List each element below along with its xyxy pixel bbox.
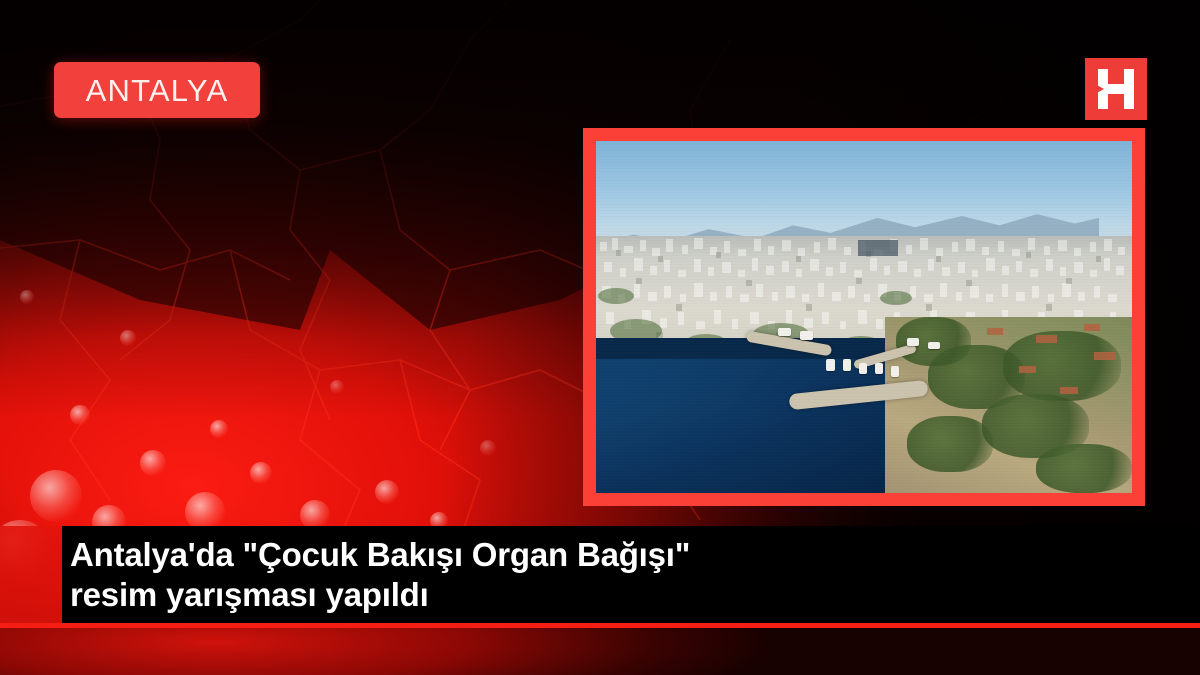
city-badge-label: ANTALYA: [86, 75, 229, 106]
antalya-harbor-photo: [596, 141, 1132, 493]
haberler-h-logo[interactable]: [1085, 58, 1147, 120]
h-letter-icon: [1085, 58, 1147, 120]
article-photo-card[interactable]: [583, 128, 1145, 506]
footer-red-area: [0, 628, 1200, 675]
headline-band: Antalya'da "Çocuk Bakışı Organ Bağışı" r…: [62, 526, 1200, 624]
photo-grain-overlay: [596, 141, 1132, 493]
headline-left-red-strip: [0, 526, 62, 624]
city-badge: ANTALYA: [54, 62, 260, 118]
headline-text: Antalya'da "Çocuk Bakışı Organ Bağışı" r…: [62, 535, 1200, 614]
news-card-screenshot: ANTALYA: [0, 0, 1200, 675]
